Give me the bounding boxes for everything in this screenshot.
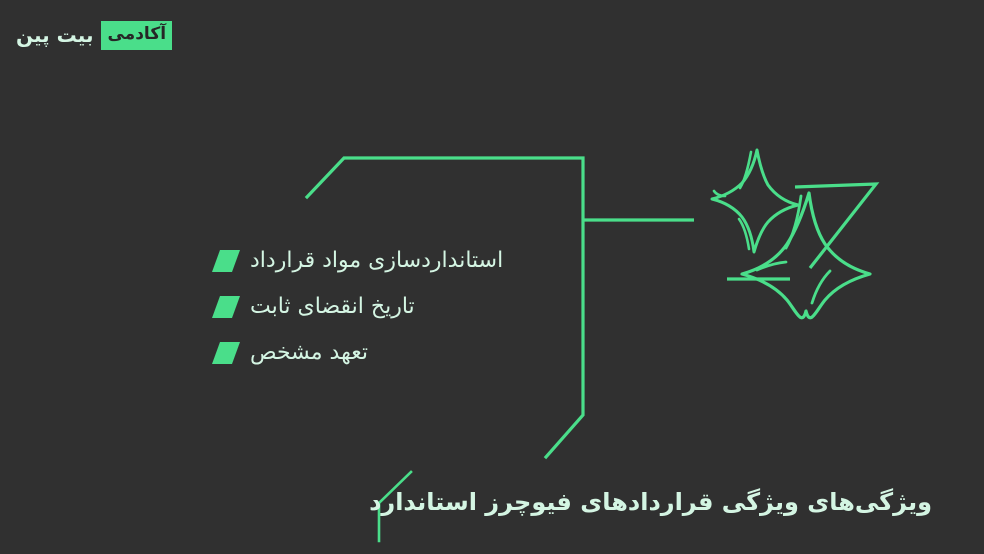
list-item: تاریخ انقضای ثابت: [216, 284, 556, 330]
slide-canvas: آکادمی بیت پین: [0, 0, 984, 554]
list-item-label: تعهد مشخص: [250, 337, 368, 369]
bullet-marker-icon: [212, 342, 240, 364]
slide-title-text: ویژگی‌های ویژگی قراردادهای فیوچرز استاند…: [369, 488, 932, 516]
brand-logo: آکادمی بیت پین: [16, 20, 172, 50]
list-item-label: تاریخ انقضای ثابت: [250, 291, 415, 323]
list-item-label: استانداردسازی مواد قرارداد: [250, 245, 503, 277]
list-item: استانداردسازی مواد قرارداد: [216, 238, 556, 284]
logo-badge-academy: آکادمی: [101, 21, 172, 50]
list-item: تعهد مشخص: [216, 330, 556, 376]
bullet-marker-icon: [212, 296, 240, 318]
sparkle-star-icon-upper: [712, 150, 798, 252]
bullet-marker-icon: [212, 250, 240, 272]
sparkle-sweep-line: [795, 184, 876, 268]
logo-wordmark-bitpin: بیت پین: [16, 25, 101, 45]
slide-title: ویژگی‌های ویژگی قراردادهای فیوچرز استاند…: [392, 486, 932, 520]
feature-bullet-list: استانداردسازی مواد قرارداد تاریخ انقضای …: [216, 238, 556, 376]
sparkle-star-icon-lower: [742, 193, 870, 318]
